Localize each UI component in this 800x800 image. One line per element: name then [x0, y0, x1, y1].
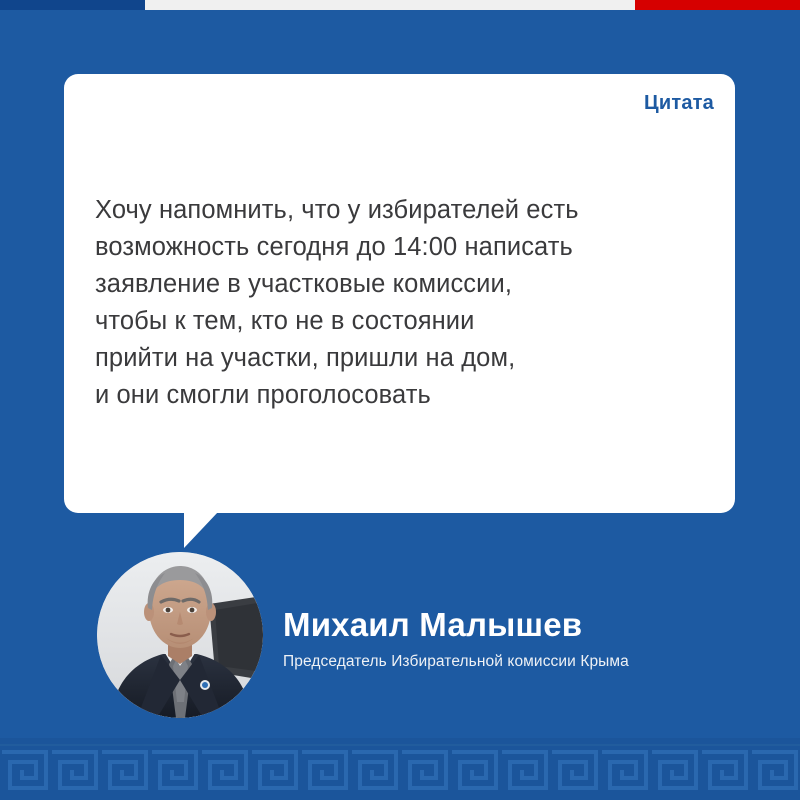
- quote-line: прийти на участки, пришли на дом,: [95, 340, 710, 377]
- quote-card-graphic: Цитата Хочу напомнить, что у избирателей…: [0, 0, 800, 800]
- flag-segment-red: [635, 0, 800, 10]
- greek-key-border: [0, 738, 800, 800]
- russian-flag-strip: [0, 0, 800, 10]
- speaker-block: Михаил Малышев Председатель Избирательно…: [97, 552, 737, 722]
- flag-segment-blue: [0, 0, 145, 10]
- quote-line: и они смогли проголосовать: [95, 377, 710, 414]
- flag-segment-white: [145, 0, 635, 10]
- quote-line: возможность сегодня до 14:00 написать: [95, 229, 710, 266]
- quote-category-label: Цитата: [644, 92, 714, 115]
- speaker-title: Председатель Избирательной комиссии Крым…: [283, 652, 733, 672]
- quote-line: чтобы к тем, кто не в состоянии: [95, 303, 710, 340]
- speech-bubble-tail: [184, 512, 218, 548]
- quote-text-block: Хочу напомнить, что у избирателей есть в…: [95, 192, 710, 414]
- quote-bubble-card: Цитата Хочу напомнить, что у избирателей…: [64, 74, 735, 513]
- avatar: [97, 552, 263, 718]
- speaker-name: Михаил Малышев: [283, 606, 733, 644]
- quote-line: заявление в участковые комиссии,: [95, 266, 710, 303]
- speaker-text: Михаил Малышев Председатель Избирательно…: [283, 606, 733, 672]
- quote-line: Хочу напомнить, что у избирателей есть: [95, 192, 710, 229]
